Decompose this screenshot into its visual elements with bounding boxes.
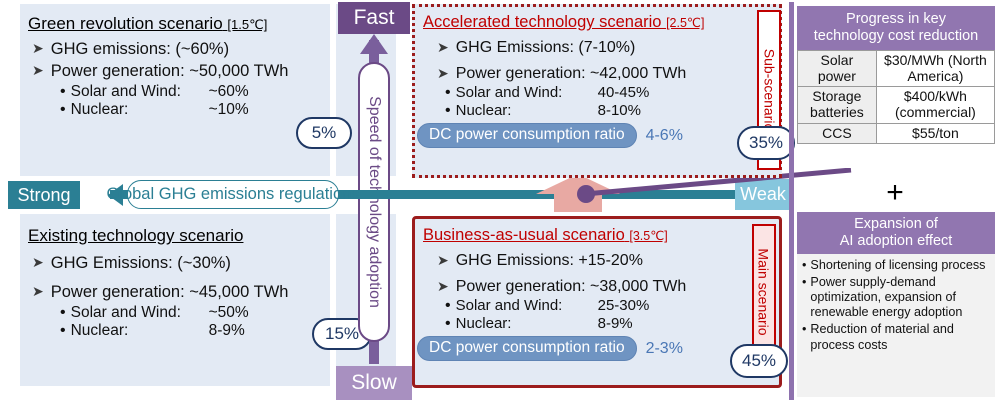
share-badge-green-revolution-text: 5% xyxy=(312,123,337,143)
table-row: CCS $55/ton xyxy=(798,123,995,144)
dot-bullet-icon: • xyxy=(445,297,451,315)
green-revolution-bullet-0: ➤ GHG emissions: (~60%) xyxy=(32,40,326,59)
dot-bullet-icon: • xyxy=(445,102,451,120)
scenario-tag-main: Main scenario xyxy=(752,224,776,360)
dc-power-ratio-value-accelerated: 4-6% xyxy=(646,127,683,145)
green-revolution-temp: [1.5℃] xyxy=(227,17,267,32)
business-as-usual-subitem-0: • Solar and Wind: 25-30% xyxy=(445,297,779,315)
arrow-bullet-icon: ➤ xyxy=(32,283,44,300)
ai-adoption-item-1-text: Power supply-demand optimization, expans… xyxy=(810,275,990,320)
existing-technology-title: Existing technology scenario xyxy=(28,226,326,246)
cost-row-2-value: $55/ton xyxy=(876,123,994,144)
accelerated-technology-bullet-1-text: Power generation: ~42,000 TWh xyxy=(456,65,687,83)
dc-power-ratio-pill-bau: DC power consumption ratio xyxy=(417,336,637,361)
green-revolution-subitem-1: • Nuclear: ~10% xyxy=(60,101,326,119)
existing-technology-bullet-1-text: Power generation: ~45,000 TWh xyxy=(51,283,289,302)
existing-technology-bullet-0-text: GHG Emissions: (~30%) xyxy=(51,254,231,273)
green-revolution-subitem-1-label: Nuclear: xyxy=(71,101,209,119)
existing-technology-subitem-1: • Nuclear: 8-9% xyxy=(60,322,326,340)
vertical-axis-label-text: Speed of technology adoption xyxy=(365,96,383,308)
vertical-axis-arrowhead-icon xyxy=(360,34,388,54)
panel-cost-reduction: Progress in key technology cost reductio… xyxy=(797,6,995,176)
axis-label-slow-text: Slow xyxy=(351,371,397,395)
axis-label-fast-text: Fast xyxy=(354,6,395,30)
arrow-bullet-icon: ➤ xyxy=(32,62,44,79)
cost-row-2-key: CCS xyxy=(798,123,877,144)
existing-technology-bullet-0: ➤ GHG Emissions: (~30%) xyxy=(32,254,326,273)
list-item: • Reduction of material and process cost… xyxy=(802,322,990,352)
panel-business-as-usual: Business-as-usual scenario [3.5℃] ➤ GHG … xyxy=(412,216,782,388)
right-panels-connector-line xyxy=(789,2,794,400)
green-revolution-subitem-0-label: Solar and Wind: xyxy=(71,83,209,101)
cost-reduction-title-line2: technology cost reduction xyxy=(814,28,978,45)
table-row: Storage batteries $400/kWh (commercial) xyxy=(798,87,995,123)
business-as-usual-temp: [3.5℃] xyxy=(629,229,667,243)
accelerated-technology-bullet-0: ➤ GHG Emissions: (7-10%) xyxy=(437,39,779,57)
table-row: Solar power $30/MWh (North America) xyxy=(798,51,995,87)
cost-row-0-key: Solar power xyxy=(798,51,877,87)
accelerated-technology-subitem-0: • Solar and Wind: 40-45% xyxy=(445,84,779,102)
green-revolution-bullet-1: ➤ Power generation: ~50,000 TWh xyxy=(32,62,326,81)
axis-label-strong-text: Strong xyxy=(17,185,70,206)
green-revolution-subitem-0: • Solar and Wind: ~60% xyxy=(60,83,326,101)
cost-row-0-value: $30/MWh (North America) xyxy=(876,51,994,87)
scenario-tag-sub-text: Sub-scenario xyxy=(761,49,777,132)
panel-green-revolution: Green revolution scenario [1.5℃] ➤ GHG e… xyxy=(26,8,326,168)
share-badge-accelerated-technology-text: 35% xyxy=(749,133,783,153)
cost-reduction-title-line1: Progress in key xyxy=(846,11,946,28)
arrow-bullet-icon: ➤ xyxy=(437,65,449,82)
accelerated-technology-bullet-0-text: GHG Emissions: (7-10%) xyxy=(456,39,636,57)
dot-bullet-icon: • xyxy=(60,101,66,119)
cost-reduction-title: Progress in key technology cost reductio… xyxy=(797,6,995,50)
business-as-usual-subitem-0-value: 25-30% xyxy=(598,297,650,315)
accelerated-technology-subitem-1-value: 8-10% xyxy=(598,102,641,120)
share-badge-green-revolution: 5% xyxy=(296,117,352,149)
ai-adoption-list: • Shortening of licensing process • Powe… xyxy=(797,254,995,397)
share-badge-business-as-usual-text: 45% xyxy=(742,351,776,371)
existing-technology-subitem-0: • Solar and Wind: ~50% xyxy=(60,304,326,322)
ai-adoption-title-line1: Expansion of xyxy=(854,216,938,233)
accelerated-technology-subitem-1: • Nuclear: 8-10% xyxy=(445,102,779,120)
dot-bullet-icon: • xyxy=(60,304,66,322)
green-revolution-title-text: Green revolution scenario xyxy=(28,14,223,33)
cost-reduction-table: Solar power $30/MWh (North America) Stor… xyxy=(797,50,995,144)
ai-adoption-title-line2: AI adoption effect xyxy=(840,233,953,250)
existing-technology-subitem-1-value: 8-9% xyxy=(209,322,245,340)
axis-label-fast: Fast xyxy=(338,2,410,34)
arrow-bullet-icon: ➤ xyxy=(437,252,449,269)
business-as-usual-bullet-0-text: GHG Emissions: +15-20% xyxy=(456,252,643,270)
green-revolution-bullet-1-text: Power generation: ~50,000 TWh xyxy=(51,62,289,81)
axis-label-strong: Strong xyxy=(8,181,80,209)
business-as-usual-title: Business-as-usual scenario [3.5℃] xyxy=(423,226,779,245)
arrow-bullet-icon: ➤ xyxy=(32,254,44,271)
green-revolution-subitem-0-value: ~60% xyxy=(209,83,249,101)
dot-bullet-icon: • xyxy=(445,84,451,102)
arrow-bullet-icon: ➤ xyxy=(32,40,44,57)
cost-row-1-value: $400/kWh (commercial) xyxy=(876,87,994,123)
business-as-usual-subitem-1: • Nuclear: 8-9% xyxy=(445,315,779,333)
accelerated-technology-temp: [2.5℃] xyxy=(666,16,704,30)
dot-bullet-icon: • xyxy=(802,258,806,273)
green-revolution-subitem-1-value: ~10% xyxy=(209,101,249,119)
green-revolution-bullet-0-text: GHG emissions: (~60%) xyxy=(51,40,229,59)
business-as-usual-subitem-1-value: 8-9% xyxy=(598,315,633,333)
panel-ai-adoption-effect: Expansion of AI adoption effect • Shorte… xyxy=(797,212,995,390)
business-as-usual-bullet-1-text: Power generation: ~38,000 TWh xyxy=(456,278,687,296)
share-badge-accelerated-technology: 35% xyxy=(737,126,795,160)
vertical-axis-pill: Speed of technology adoption xyxy=(358,62,390,342)
cost-row-1-key: Storage batteries xyxy=(798,87,877,123)
axis-label-slow: Slow xyxy=(336,366,412,400)
ai-adoption-item-2-text: Reduction of material and process costs xyxy=(810,322,990,352)
accelerated-technology-bullet-1: ➤ Power generation: ~42,000 TWh xyxy=(437,65,779,83)
business-as-usual-subitem-0-label: Solar and Wind: xyxy=(456,297,598,315)
dot-bullet-icon: • xyxy=(802,275,806,320)
existing-technology-subitem-0-label: Solar and Wind: xyxy=(71,304,209,322)
dc-power-ratio-pill-accelerated: DC power consumption ratio xyxy=(417,123,637,148)
share-badge-business-as-usual: 45% xyxy=(730,344,788,378)
arrow-bullet-icon: ➤ xyxy=(437,278,449,295)
list-item: • Power supply-demand optimization, expa… xyxy=(802,275,990,320)
dot-bullet-icon: • xyxy=(60,83,66,101)
ai-adoption-title: Expansion of AI adoption effect xyxy=(797,212,995,254)
business-as-usual-subitem-1-label: Nuclear: xyxy=(456,315,598,333)
ai-adoption-item-0-text: Shortening of licensing process xyxy=(810,258,985,273)
accelerated-technology-subitem-0-value: 40-45% xyxy=(598,84,650,102)
list-item: • Shortening of licensing process xyxy=(802,258,990,273)
panel-existing-technology: Existing technology scenario ➤ GHG Emiss… xyxy=(26,222,326,382)
accelerated-technology-subitem-0-label: Solar and Wind: xyxy=(456,84,598,102)
panel-accelerated-technology: Accelerated technology scenario [2.5℃] ➤… xyxy=(412,4,782,178)
dc-power-ratio-value-bau: 2-3% xyxy=(646,340,683,358)
plus-connector-icon: + xyxy=(880,178,910,208)
horizontal-axis-label-text: Global GHG emissions regulations xyxy=(106,185,359,204)
business-as-usual-title-text: Business-as-usual scenario xyxy=(423,226,625,244)
accelerated-technology-title-text: Accelerated technology scenario xyxy=(423,13,661,31)
dot-bullet-icon: • xyxy=(60,322,66,340)
accelerated-technology-title: Accelerated technology scenario [2.5℃] xyxy=(423,13,779,32)
business-as-usual-bullet-1: ➤ Power generation: ~38,000 TWh xyxy=(437,278,779,296)
scenario-tag-main-text: Main scenario xyxy=(756,248,772,335)
arrow-bullet-icon: ➤ xyxy=(437,39,449,56)
business-as-usual-bullet-0: ➤ GHG Emissions: +15-20% xyxy=(437,252,779,270)
existing-technology-title-text: Existing technology scenario xyxy=(28,226,243,245)
existing-technology-subitem-0-value: ~50% xyxy=(209,304,249,322)
share-badge-existing-technology-text: 15% xyxy=(325,324,359,344)
horizontal-axis-pill: Global GHG emissions regulations xyxy=(127,180,339,209)
accelerated-technology-subitem-1-label: Nuclear: xyxy=(456,102,598,120)
existing-technology-subitem-1-label: Nuclear: xyxy=(71,322,209,340)
dot-bullet-icon: • xyxy=(445,315,451,333)
existing-technology-bullet-1: ➤ Power generation: ~45,000 TWh xyxy=(32,283,326,302)
green-revolution-title: Green revolution scenario [1.5℃] xyxy=(28,14,326,34)
dot-bullet-icon: • xyxy=(802,322,806,352)
